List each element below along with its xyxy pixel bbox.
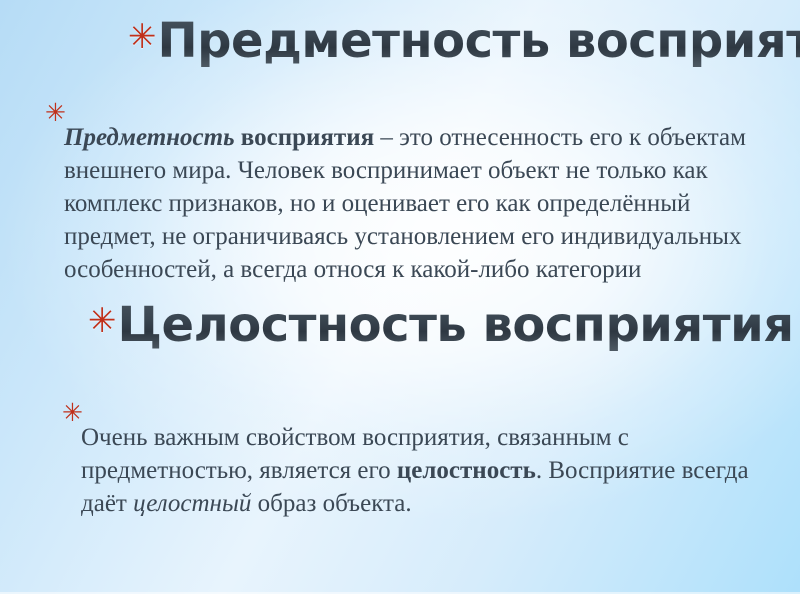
slide-bottom-strip	[0, 594, 800, 600]
slide-heading-predmetnost: ✳ Предметность восприятия Предметность в…	[128, 18, 800, 65]
slide-heading-celostnost: ✳ Целостность восприятия Целостность вос…	[88, 302, 800, 349]
body-paragraph-text-2: Очень важным свойством восприятия, связа…	[81, 421, 762, 520]
asterisk-bullet-icon: ✳	[62, 396, 81, 429]
heading-text-stack: Предметность восприятия Предметность вос…	[158, 18, 800, 65]
heading-title-2: Целостность восприятия	[118, 297, 794, 353]
asterisk-bullet-icon: ✳	[45, 96, 64, 129]
heading-title-1: Предметность восприятия	[158, 13, 800, 69]
slide-body-paragraph-1: ✳ Предметность восприятия – это отнесенн…	[45, 96, 765, 311]
heading-text-stack: Целостность восприятия Целостность воспр…	[118, 302, 800, 349]
asterisk-bullet-icon: ✳	[88, 304, 117, 338]
slide-body-paragraph-2: ✳ Очень важным свойством восприятия, свя…	[62, 396, 762, 545]
presentation-slide: ✳ Предметность восприятия Предметность в…	[0, 0, 800, 600]
asterisk-bullet-icon: ✳	[128, 20, 157, 54]
body-paragraph-text-1: Предметность восприятия – это отнесеннос…	[64, 121, 765, 286]
